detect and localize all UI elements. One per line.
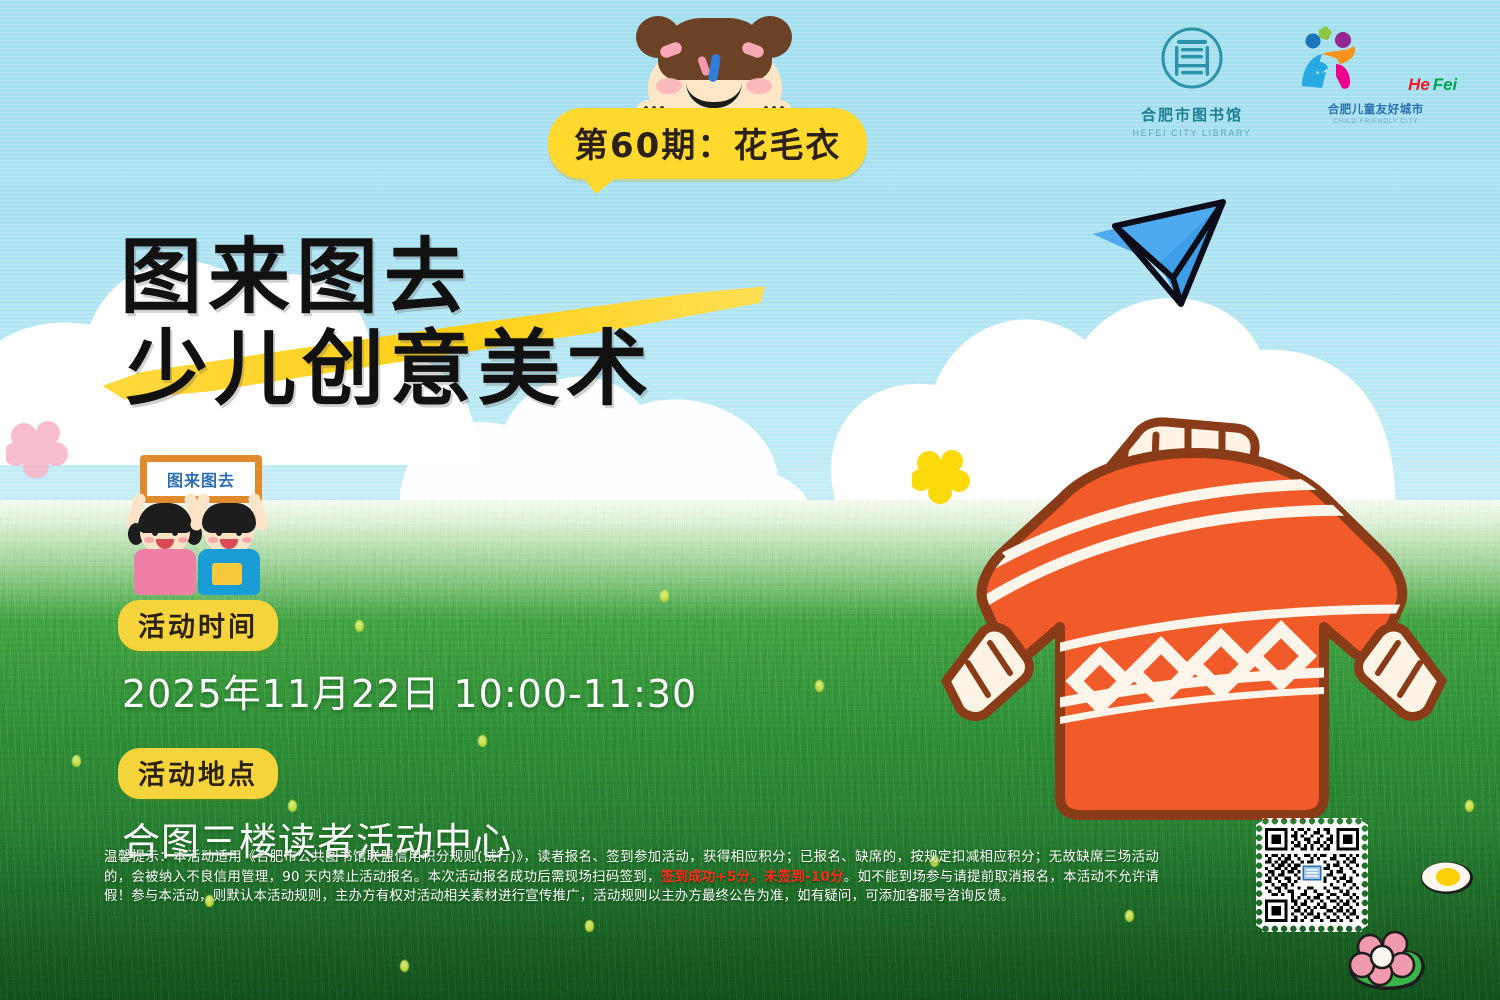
qr-code-image <box>1265 828 1359 922</box>
hefei-child-friendly-icon <box>1292 24 1374 94</box>
girl-kid-icon <box>132 499 198 595</box>
pink-flower-icon <box>6 420 68 478</box>
sign-board-label: 图来图去 <box>167 467 235 491</box>
kids-with-sign-illustration: 图来图去 <box>118 455 283 595</box>
child-friendly-name-en: CHILD-FRIENDLY CITY <box>1292 118 1460 125</box>
library-name-cn: 合肥市图书馆 <box>1133 104 1252 125</box>
svg-text:He: He <box>1408 75 1430 94</box>
event-place-label: 活动地点 <box>118 748 278 799</box>
svg-text:Fei: Fei <box>1433 75 1459 94</box>
pink-flower-on-grass-icon <box>1340 925 1432 1000</box>
hefei-library-logo: 合肥市图书馆 HEFEI CITY LIBRARY <box>1133 24 1252 138</box>
poster-canvas: 图来图去 少儿创意美术 第60期：花毛衣 图来图去 <box>0 0 1500 1000</box>
disclaimer-text: 温馨提示：本活动适用《合肥市公共图书馆联盟信用积分规则(试行)》，读者报名、签到… <box>104 848 1159 907</box>
badge-tail <box>582 176 618 194</box>
event-info: 活动时间 2025年11月22日 10:00-11:30 活动地点 合图三楼读者… <box>118 600 697 866</box>
paper-plane-icon <box>1085 192 1235 312</box>
library-name-en: HEFEI CITY LIBRARY <box>1133 128 1252 138</box>
girl-character-icon <box>630 16 800 121</box>
qr-code[interactable] <box>1256 818 1368 932</box>
sweater-illustration <box>930 395 1460 825</box>
poster-title: 图来图去 少儿创意美术 <box>120 232 654 416</box>
boy-kid-icon <box>196 499 262 595</box>
child-friendly-city-logo: He Fei 合肥儿童友好城市 CHILD-FRIENDLY CITY <box>1292 24 1460 125</box>
title-line-2: 少儿创意美术 <box>126 324 654 416</box>
event-time-value: 2025年11月22日 10:00-11:30 <box>122 663 697 718</box>
fried-egg-icon <box>1420 860 1474 896</box>
event-time-label: 活动时间 <box>118 600 278 651</box>
episode-badge-group: 第60期：花毛衣 <box>548 108 867 179</box>
child-friendly-name-cn: 合肥儿童友好城市 <box>1292 101 1460 117</box>
disclaimer-highlight: 签到成功+5分，未签到-10分 <box>661 870 844 885</box>
title-line-1: 图来图去 <box>120 232 654 324</box>
hefei-wordmark-icon: He Fei <box>1378 74 1460 94</box>
library-seal-icon <box>1153 24 1231 96</box>
logo-group: 合肥市图书馆 HEFEI CITY LIBRARY He Fei 合肥儿童友好城… <box>1133 24 1460 138</box>
episode-badge: 第60期：花毛衣 <box>548 108 867 179</box>
episode-badge-label: 第60期：花毛衣 <box>574 118 841 167</box>
